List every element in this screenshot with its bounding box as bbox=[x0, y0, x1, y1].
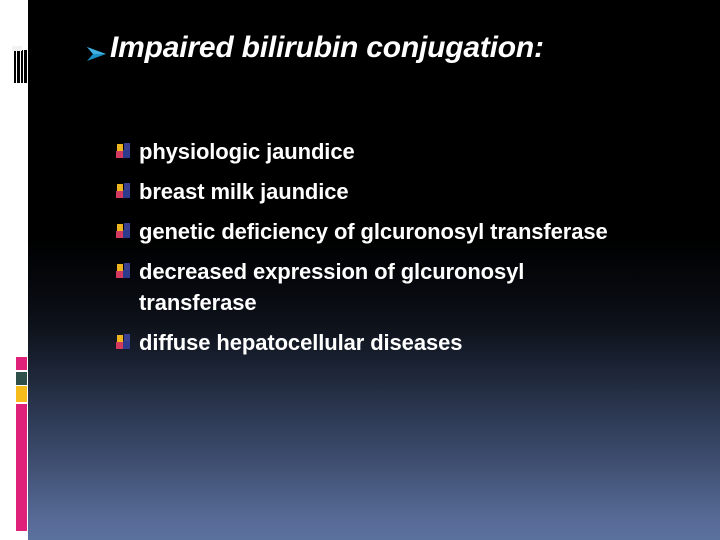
four-square-bullet-icon bbox=[116, 334, 132, 350]
presentation-slide: Impaired bilirubin conjugation: physiolo… bbox=[0, 0, 720, 540]
list-item: physiologic jaundice bbox=[116, 136, 696, 167]
slide-title-row: Impaired bilirubin conjugation: bbox=[84, 28, 694, 74]
accent-chip-gold bbox=[16, 386, 27, 402]
four-square-bullet-icon bbox=[116, 143, 132, 159]
list-item: decreased expression of glcuronosyl tran… bbox=[116, 256, 696, 318]
list-item-label: breast milk jaundice bbox=[139, 176, 349, 207]
arrowhead-bullet-icon bbox=[84, 34, 110, 74]
list-item: genetic deficiency of glcuronosyl transf… bbox=[116, 216, 696, 247]
four-square-bullet-icon bbox=[116, 263, 132, 279]
bullet-list: physiologic jaundice breast milk jaundic… bbox=[116, 136, 696, 367]
four-square-bullet-icon bbox=[116, 223, 132, 239]
list-item: breast milk jaundice bbox=[116, 176, 696, 207]
list-item: diffuse hepatocellular diseases bbox=[116, 327, 696, 358]
accent-bar-magenta bbox=[16, 404, 27, 531]
slide-title: Impaired bilirubin conjugation: bbox=[110, 28, 544, 68]
accent-chip-teal bbox=[16, 372, 27, 385]
list-item-label: physiologic jaundice bbox=[139, 136, 355, 167]
barcode-stripes-icon bbox=[14, 50, 30, 83]
accent-chip-magenta bbox=[16, 357, 27, 370]
list-item-label: decreased expression of glcuronosyl tran… bbox=[139, 256, 607, 318]
list-item-label: genetic deficiency of glcuronosyl transf… bbox=[139, 216, 608, 247]
list-item-label: diffuse hepatocellular diseases bbox=[139, 327, 462, 358]
four-square-bullet-icon bbox=[116, 183, 132, 199]
